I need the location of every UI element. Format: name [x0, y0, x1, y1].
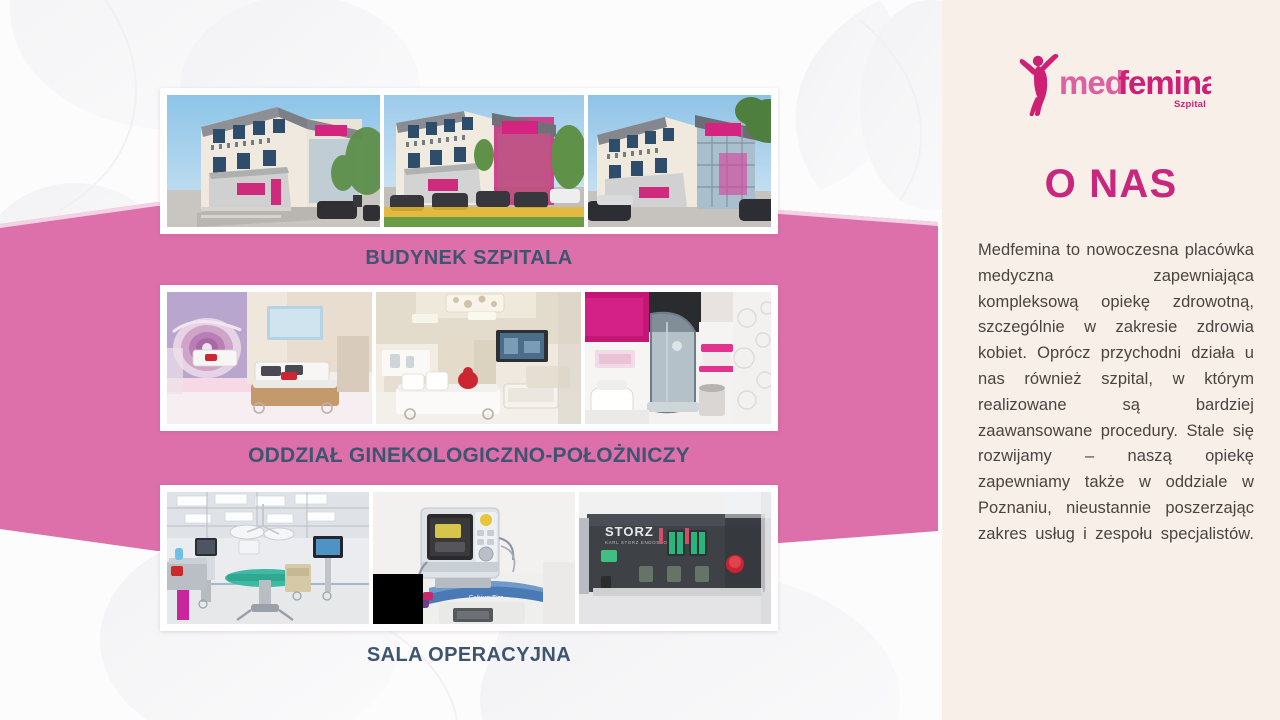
photo-hospital-building-front-left[interactable] [167, 95, 380, 227]
svg-text:STORZ: STORZ [605, 524, 654, 539]
svg-text:femina: femina [1118, 64, 1211, 101]
slide-root: BUDYNEK SZPITALA [0, 0, 1280, 720]
photo-strip [167, 292, 771, 424]
section-sala: Fabius Tiro [160, 485, 778, 667]
photo-operating-theatre[interactable] [167, 492, 369, 624]
photo-patient-bathroom-shower[interactable] [585, 292, 771, 424]
photo-strip: Fabius Tiro [167, 492, 771, 624]
medfemina-dancer-icon [1020, 54, 1059, 116]
caption-sala: SALA OPERACYJNA [160, 644, 778, 667]
caption-budynek: BUDYNEK SZPITALA [160, 247, 778, 270]
photo-patient-room-with-tv[interactable] [376, 292, 581, 424]
photo-strip-frame [160, 285, 778, 431]
page-title: O NAS [942, 162, 1280, 207]
section-budynek: BUDYNEK SZPITALA [160, 88, 778, 270]
section-oddzial: ODDZIAŁ GINEKOLOGICZNO-POŁOŻNICZY [160, 285, 778, 468]
photo-strip-frame: Fabius Tiro [160, 485, 778, 631]
photo-patient-room-rose-mural[interactable] [167, 292, 372, 424]
svg-text:Szpital: Szpital [1174, 99, 1206, 110]
photo-strip [167, 95, 771, 227]
svg-text:Fabius Tiro: Fabius Tiro [469, 595, 504, 602]
medfemina-logo: med femina Szpital [1011, 50, 1211, 116]
logo-block[interactable]: med femina Szpital [942, 50, 1280, 116]
photo-anaesthesia-machine[interactable]: Fabius Tiro [373, 492, 575, 624]
photo-storz-control-panel[interactable]: STORZ KARL STORZ ENDOSKOPE [579, 492, 771, 624]
svg-text:KARL STORZ ENDOSKOPE: KARL STORZ ENDOSKOPE [605, 540, 675, 545]
photo-strip-frame [160, 88, 778, 234]
photo-sections: BUDYNEK SZPITALA [0, 0, 942, 720]
svg-text:med: med [1059, 64, 1124, 101]
photo-hospital-building-entrance[interactable] [384, 95, 584, 227]
about-body-text: Medfemina to nowoczesna placówka medyczn… [978, 238, 1254, 573]
caption-oddzial: ODDZIAŁ GINEKOLOGICZNO-POŁOŻNICZY [160, 444, 778, 468]
photo-hospital-building-glass-facade[interactable] [588, 95, 771, 227]
